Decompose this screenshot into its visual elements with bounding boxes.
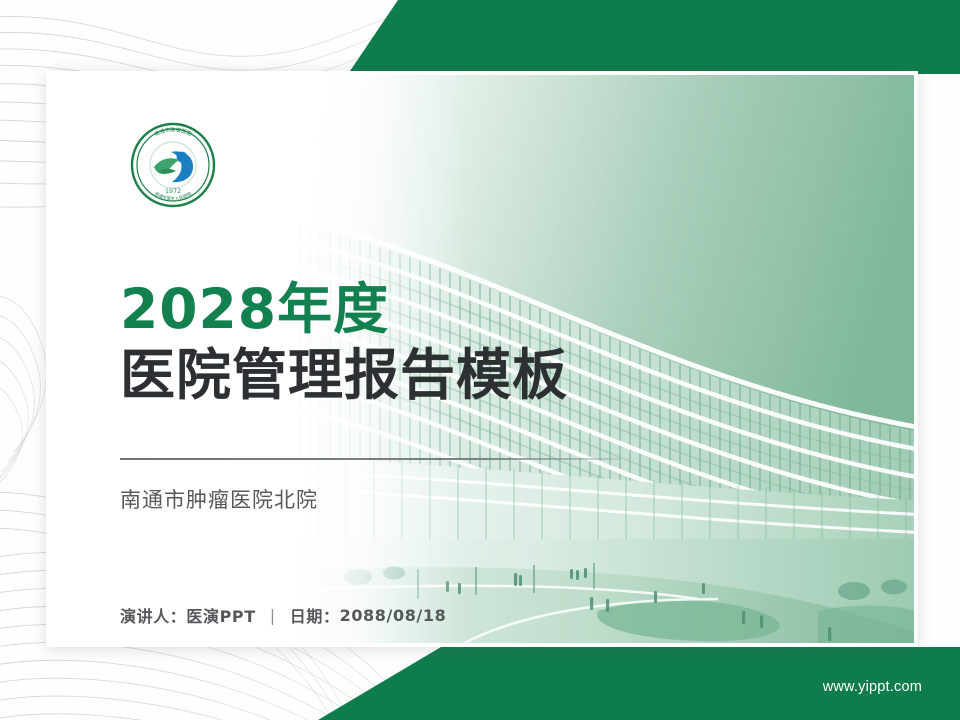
byline-separator: | <box>270 606 276 625</box>
title-block: 2028年度 医院管理报告模板 <box>120 279 568 406</box>
website-url: www.yippt.com <box>823 679 922 695</box>
page-title-year: 2028年度 <box>120 279 568 341</box>
byline: 演讲人： 医演PPT | 日期： 2088/08/18 <box>120 603 446 627</box>
logo-established-year: 1972 <box>165 187 181 195</box>
hospital-logo-icon: 南通市肿瘤医院 南通市第五人民医院 1972 <box>122 121 224 209</box>
presentation-slide: www.yippt.com <box>0 0 960 720</box>
card-inner: 南通市肿瘤医院 南通市第五人民医院 1972 2028年度 医院管理报告模板 南… <box>46 71 918 647</box>
presenter-label: 演讲人： <box>120 603 186 627</box>
date-value: 2088/08/18 <box>340 606 447 625</box>
subtitle-organization: 南通市肿瘤医院北院 <box>120 484 318 514</box>
date-label: 日期： <box>290 603 340 627</box>
title-divider <box>120 458 620 460</box>
presenter-value: 医演PPT <box>186 603 255 627</box>
slide-card: 南通市肿瘤医院 南通市第五人民医院 1972 2028年度 医院管理报告模板 南… <box>46 71 918 647</box>
page-title-main: 医院管理报告模板 <box>120 345 568 407</box>
